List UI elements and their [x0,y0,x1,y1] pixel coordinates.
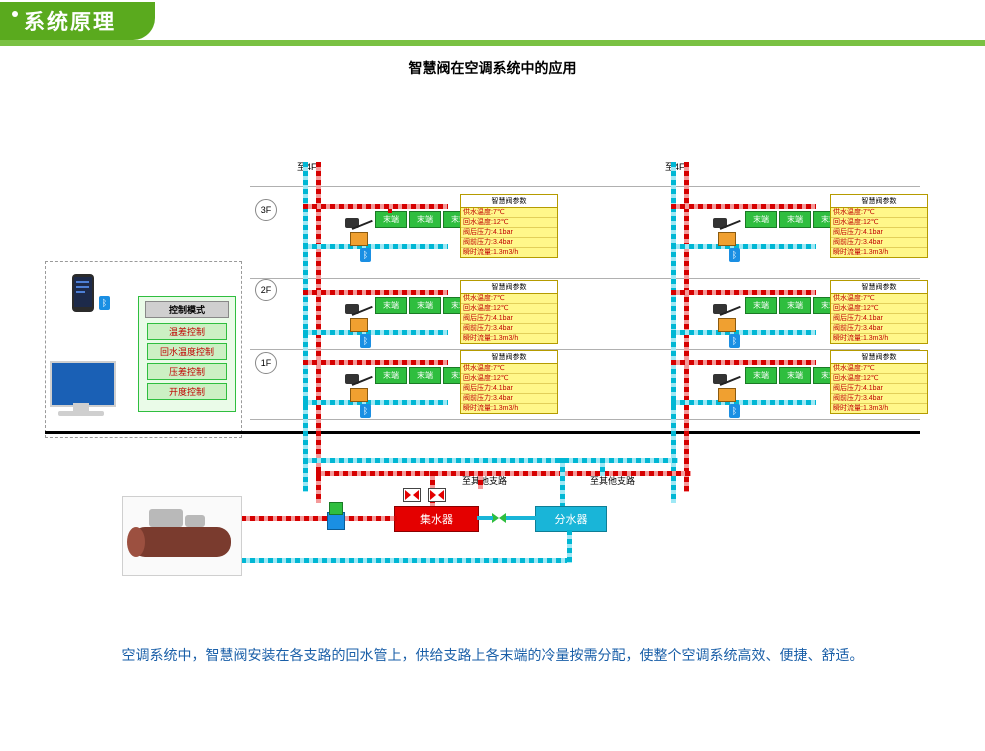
bypass-pipe-right [506,516,536,520]
terminal-unit: 末端 [745,297,777,314]
param-row: 阀前压力:3.4bar [461,238,557,248]
bullet-icon [12,11,18,17]
param-row: 阀前压力:3.4bar [831,394,927,404]
monitor-base [58,411,104,416]
f2-right-return-main [671,290,816,295]
bluetooth-icon: ᛒ [729,404,740,418]
terminal-unit: 末端 [409,211,441,228]
smart-valve-body [718,318,736,332]
floor-divider-2f [250,349,920,350]
ground-line [45,431,920,434]
floor-divider-top [250,186,920,187]
param-table-title: 智慧阀参数 [461,281,557,294]
param-row: 供水温度:7℃ [831,294,927,304]
smart-valve-body [350,232,368,246]
floor-divider-1f [250,419,920,420]
valve-triangle-right [499,513,506,523]
terminal-unit: 末端 [779,211,811,228]
balance-valve-icon [428,488,446,502]
terminal-unit: 末端 [375,297,407,314]
distributor-supply-drop [567,530,572,563]
control-mode-item[interactable]: 回水温度控制 [147,343,227,360]
bluetooth-icon: ᛒ [99,296,110,310]
chiller-shell [131,527,231,557]
param-table-title: 智慧阀参数 [461,351,557,364]
param-row: 供水温度:7℃ [461,208,557,218]
floor-badge-3f: 3F [255,199,277,221]
bluetooth-icon: ᛒ [729,334,740,348]
param-row: 回水温度:12℃ [831,374,927,384]
terminal-unit: 末端 [375,211,407,228]
bypass-valve-icon [492,512,506,524]
page-header: 系统原理 [0,0,985,46]
terminal-unit: 末端 [779,297,811,314]
valve-triangle-right [413,490,419,500]
control-mode-header: 控制模式 [145,301,229,318]
param-row: 阀后压力:4.1bar [461,228,557,238]
collector-vessel: 集水器 [394,506,479,532]
floor-divider-3f [250,278,920,279]
param-row: 瞬时流量:1.3m3/h [831,334,927,343]
control-mode-item[interactable]: 温差控制 [147,323,227,340]
smartphone-icon [72,274,94,312]
f2-left-supply-main [303,330,448,335]
distributor-riser [560,458,565,513]
smart-valve-body [718,388,736,402]
param-row: 回水温度:12℃ [461,304,557,314]
chiller-supply-pipe [232,558,572,563]
param-row: 供水温度:7℃ [461,294,557,304]
param-row: 瞬时流量:1.3m3/h [461,404,557,413]
param-table: 智慧阀参数 供水温度:7℃ 回水温度:12℃ 阀后压力:4.1bar 阀前压力:… [460,350,558,414]
param-table: 智慧阀参数 供水温度:7℃ 回水温度:12℃ 阀后压力:4.1bar 阀前压力:… [460,280,558,344]
chiller-compressor [149,509,183,527]
chiller-unit-icon [122,496,242,576]
bluetooth-icon: ᛒ [360,404,371,418]
phone-screen-line [76,281,89,283]
other-branch-return [478,471,483,489]
smart-valve-body [350,388,368,402]
system-diagram: 至4F 至4F 3F 2F 1F 末端 末端 末端 ᛒ 智慧阀参数 供水温度:7… [0,46,985,646]
distributor-vessel: 分水器 [535,506,607,532]
param-table: 智慧阀参数 供水温度:7℃ 回水温度:12℃ 阀后压力:4.1bar 阀前压力:… [830,280,928,344]
f3-left-drop [388,209,392,213]
control-mode-panel: 控制模式 温差控制 回水温度控制 压差控制 开度控制 [138,296,236,412]
param-row: 瞬时流量:1.3m3/h [831,404,927,413]
floor-badge-1f: 1F [255,352,277,374]
valve-triangle-left [492,513,499,523]
param-table-title: 智慧阀参数 [831,351,927,364]
f1-right-supply-main [671,400,816,405]
phone-screen-line [76,286,89,288]
param-row: 阀后压力:4.1bar [831,314,927,324]
param-row: 阀后压力:4.1bar [461,314,557,324]
param-row: 阀后压力:4.1bar [831,384,927,394]
param-row: 瞬时流量:1.3m3/h [831,248,927,257]
desktop-monitor-icon [50,361,116,407]
monitor-stand [73,403,89,411]
param-row: 阀前压力:3.4bar [831,238,927,248]
param-table-title: 智慧阀参数 [831,195,927,208]
chiller-motor [185,515,205,527]
param-table-title: 智慧阀参数 [831,281,927,294]
valve-triangle-left [430,490,436,500]
basement-supply-header-run [303,458,678,463]
branch-label-right: 至其他支路 [590,474,635,487]
basement-return-drop-right [684,431,689,461]
terminal-unit: 末端 [375,367,407,384]
terminal-unit: 末端 [779,367,811,384]
param-row: 回水温度:12℃ [461,374,557,384]
diagram-caption: 空调系统中，智慧阀安装在各支路的回水管上，供给支路上各末端的冷量按需分配，使整个… [0,645,985,665]
terminal-unit: 末端 [409,367,441,384]
balance-valve-icon [403,488,421,502]
param-row: 阀前压力:3.4bar [461,394,557,404]
floor-badge-2f: 2F [255,279,277,301]
control-mode-item[interactable]: 开度控制 [147,383,227,400]
param-row: 回水温度:12℃ [831,218,927,228]
param-row: 阀后压力:4.1bar [461,384,557,394]
param-row: 瞬时流量:1.3m3/h [461,248,557,257]
terminal-unit: 末端 [745,367,777,384]
param-row: 回水温度:12℃ [831,304,927,314]
bluetooth-icon: ᛒ [360,248,371,262]
f3-left-supply-main [303,244,448,249]
param-row: 阀前压力:3.4bar [831,324,927,334]
param-table: 智慧阀参数 供水温度:7℃ 回水温度:12℃ 阀后压力:4.1bar 阀前压力:… [830,350,928,414]
other-branch-supply [600,458,605,476]
basement-supply-drop-left [303,431,308,461]
f1-left-supply-main [303,400,448,405]
bypass-pipe-left [477,516,493,520]
basement-supply-drop-right [671,431,676,503]
f2-right-supply-main [671,330,816,335]
smart-valve-body [350,318,368,332]
f1-right-return-main [671,360,816,365]
f3-right-return-main [671,204,816,209]
bluetooth-icon: ᛒ [729,248,740,262]
valve-triangle-left [405,490,411,500]
valve-triangle-right [438,490,444,500]
param-table: 智慧阀参数 供水温度:7℃ 回水温度:12℃ 阀后压力:4.1bar 阀前压力:… [830,194,928,258]
terminal-unit: 末端 [409,297,441,314]
param-table: 智慧阀参数 供水温度:7℃ 回水温度:12℃ 阀后压力:4.1bar 阀前压力:… [460,194,558,258]
param-row: 供水温度:7℃ [831,208,927,218]
param-row: 供水温度:7℃ [831,364,927,374]
phone-screen-line [76,291,85,293]
f1-left-return-main [303,360,448,365]
param-row: 阀后压力:4.1bar [831,228,927,238]
f3-right-supply-main [671,244,816,249]
smart-valve-body [718,232,736,246]
chiller-end-cap [127,527,145,557]
branch-label-left: 至其他支路 [462,474,507,487]
param-table-title: 智慧阀参数 [461,195,557,208]
control-mode-item[interactable]: 压差控制 [147,363,227,380]
basement-return-drop-left [316,431,321,503]
param-row: 瞬时流量:1.3m3/h [461,334,557,343]
param-row: 供水温度:7℃ [461,364,557,374]
f2-left-return-main [303,290,448,295]
header-tab: 系统原理 [0,2,155,40]
chiller-return-pipe [232,516,397,521]
param-row: 阀前压力:3.4bar [461,324,557,334]
pump-motor [329,502,343,515]
page-title: 系统原理 [24,6,116,36]
param-row: 回水温度:12℃ [461,218,557,228]
bluetooth-icon: ᛒ [360,334,371,348]
f3-left-return-main [303,204,448,209]
terminal-unit: 末端 [745,211,777,228]
